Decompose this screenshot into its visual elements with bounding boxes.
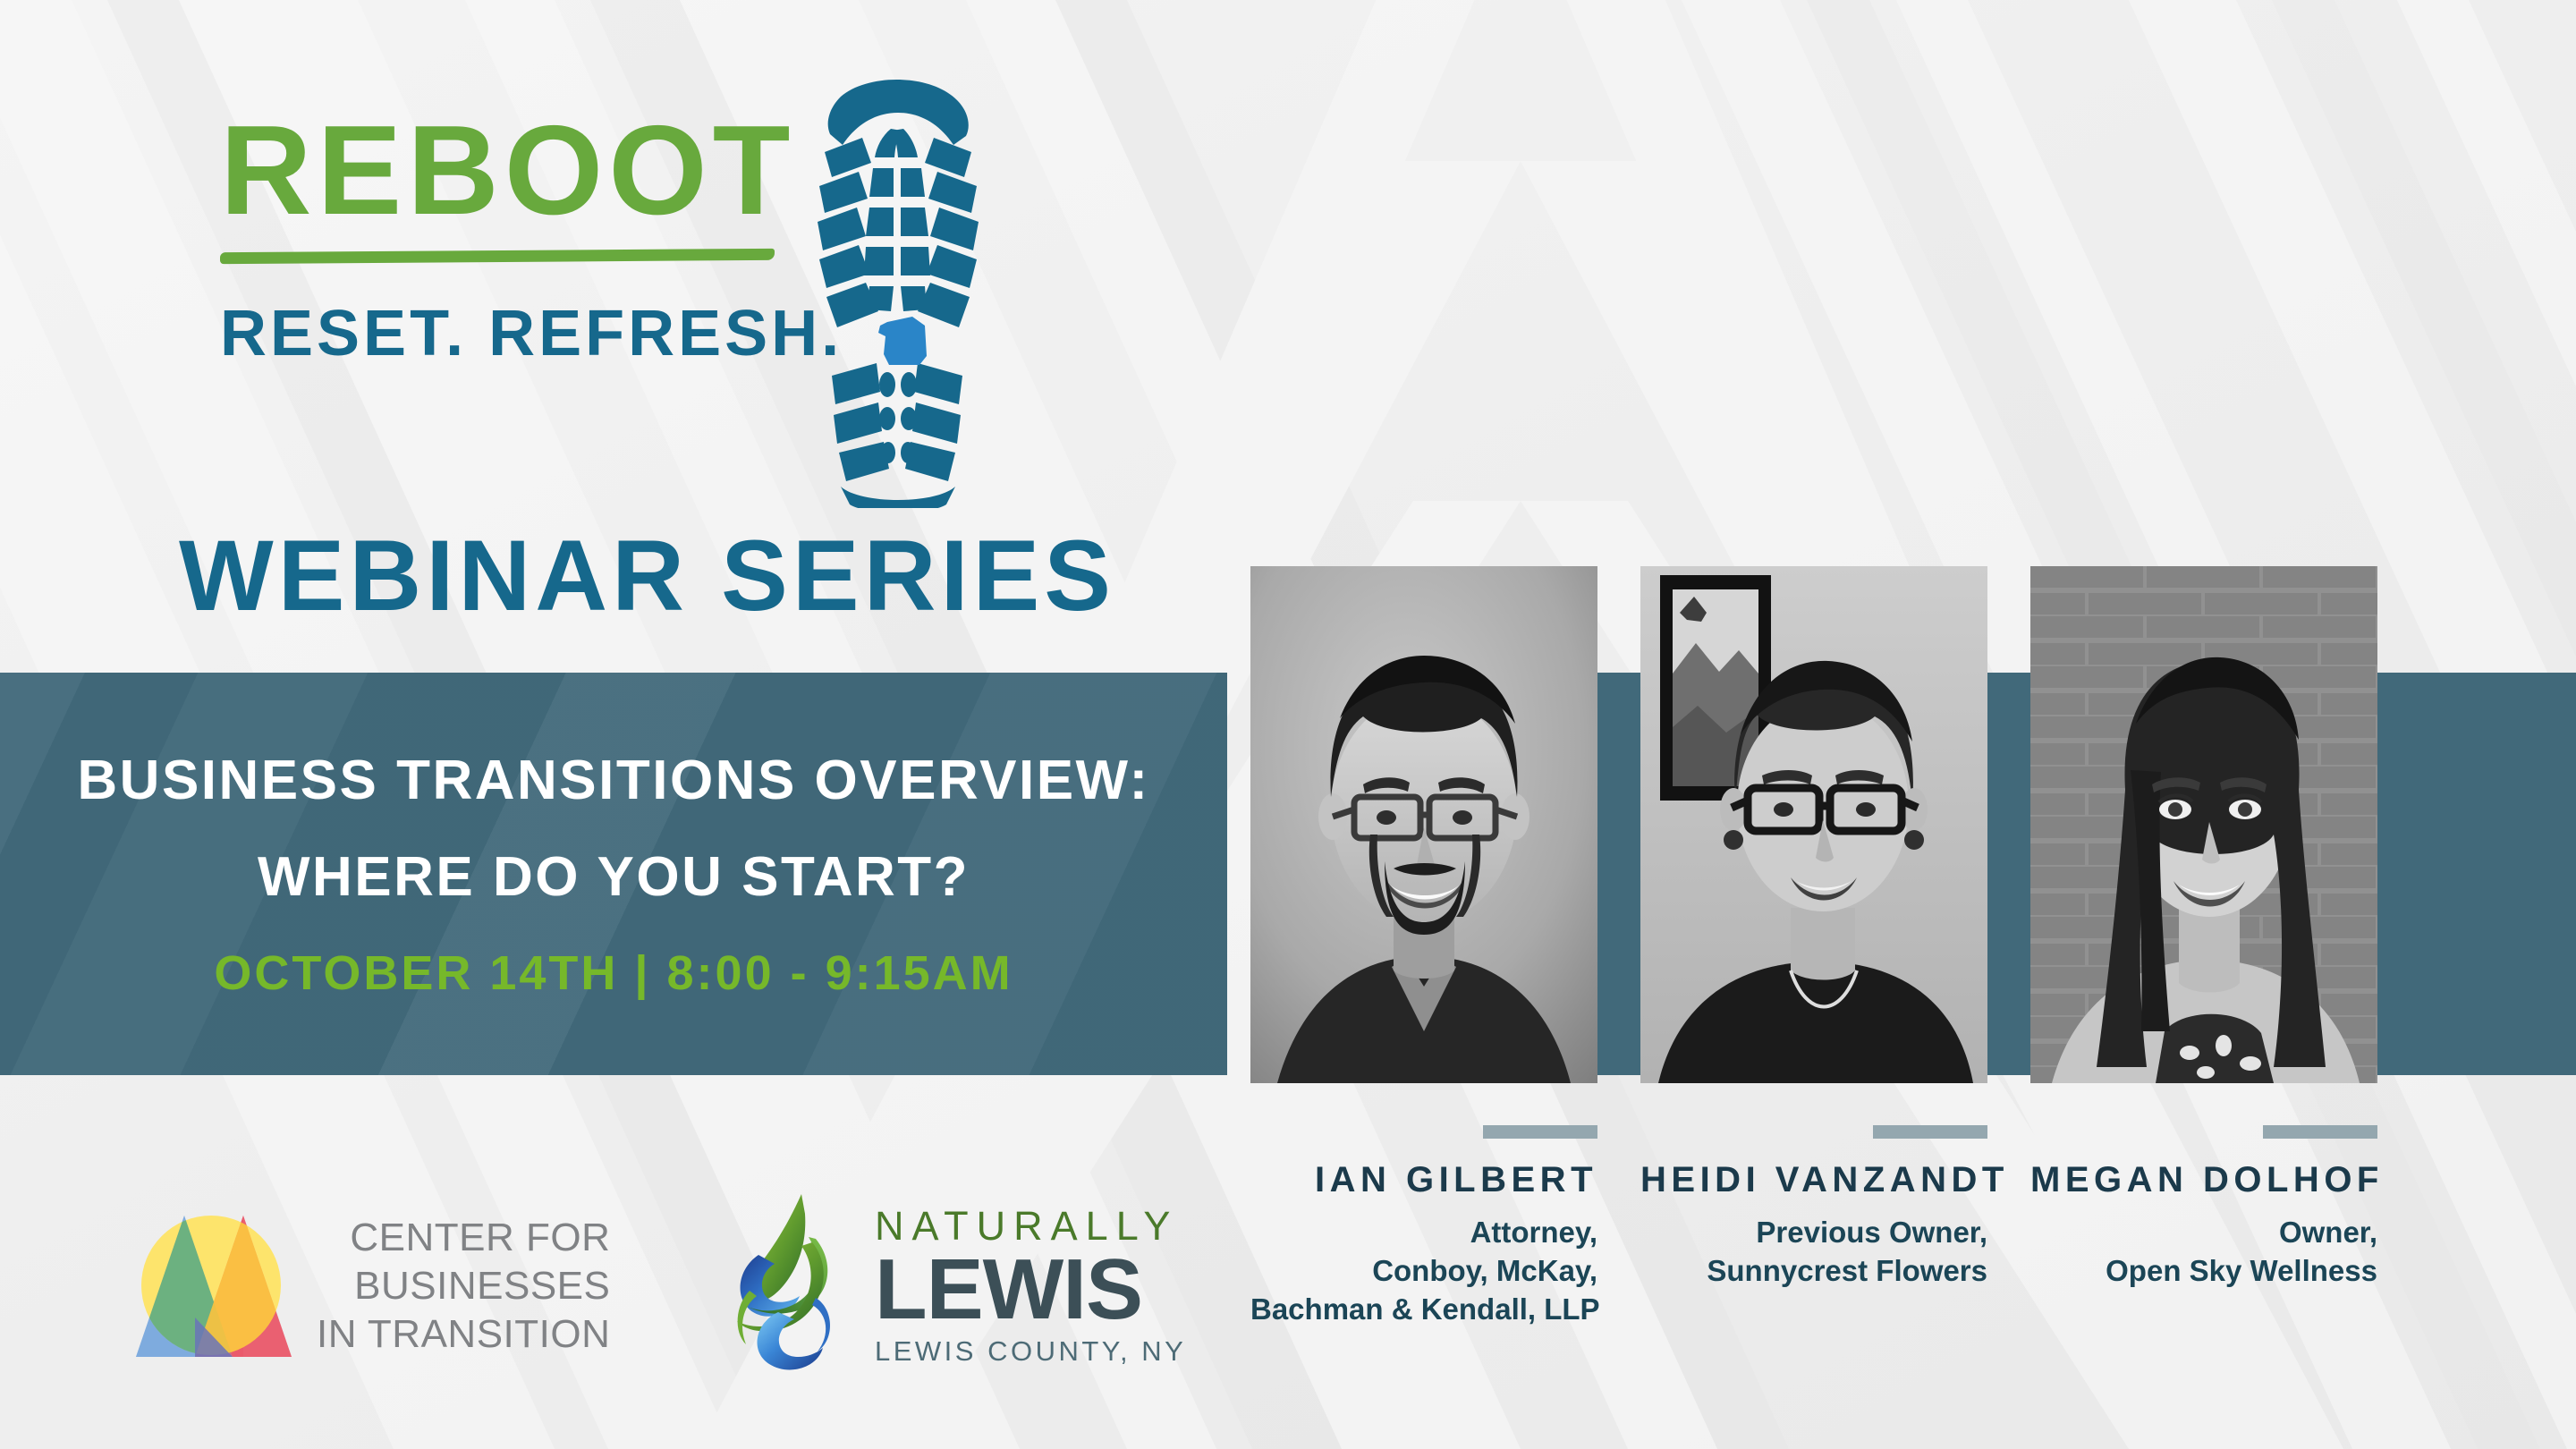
naturally-lewis-logo: NATURALLY LEWIS LEWIS COUNTY, NY	[723, 1188, 1197, 1376]
speaker-photo-row	[1250, 566, 2377, 1083]
boot-tread-footprint-icon	[805, 70, 988, 508]
nl-naturally-word: NATURALLY	[875, 1206, 1186, 1246]
reboot-tagline: RESET. REFRESH.	[220, 301, 810, 366]
speaker-role-line: Open Sky Wellness	[2030, 1252, 2377, 1291]
speaker-role-line: Owner,	[2030, 1214, 2377, 1252]
speaker-role-line: Conboy, McKay,	[1250, 1252, 1597, 1291]
speaker-accent-bar	[1483, 1125, 1597, 1139]
cbt-logo-text: CENTER FOR BUSINESSES IN TRANSITION	[317, 1214, 610, 1358]
speaker-photo-1	[1250, 566, 1597, 1083]
banner-title-line-2: WHERE DO YOU START?	[258, 847, 970, 908]
speaker-info-row: IAN GILBERT Attorney, Conboy, McKay, Bac…	[1250, 1125, 2377, 1329]
speaker-role-line: Previous Owner,	[1640, 1214, 1987, 1252]
reboot-wordmark: REBOOT	[220, 107, 810, 234]
speaker-photo-2	[1640, 566, 1987, 1083]
speaker-name: MEGAN DOLHOF	[2030, 1162, 2377, 1198]
speaker-name: HEIDI VANZANDT	[1640, 1162, 1987, 1198]
leaf-swirl-logo-icon	[723, 1191, 866, 1374]
speaker-card-3: MEGAN DOLHOF Owner, Open Sky Wellness	[2030, 1125, 2377, 1329]
speaker-card-1: IAN GILBERT Attorney, Conboy, McKay, Bac…	[1250, 1125, 1597, 1329]
banner-date-time: OCTOBER 14TH | 8:00 - 9:15AM	[214, 949, 1013, 997]
cbt-line-1: CENTER FOR	[317, 1214, 610, 1262]
speaker-role-line: Bachman & Kendall, LLP	[1250, 1291, 1597, 1329]
speaker-role: Previous Owner, Sunnycrest Flowers	[1640, 1214, 1987, 1291]
speaker-name: IAN GILBERT	[1250, 1162, 1597, 1198]
speaker-accent-bar	[1873, 1125, 1987, 1139]
speaker-role: Attorney, Conboy, McKay, Bachman & Kenda…	[1250, 1214, 1597, 1329]
reboot-underline-stroke	[220, 249, 775, 264]
nl-county-tagline: LEWIS COUNTY, NY	[875, 1337, 1186, 1365]
cbt-line-2: BUSINESSES	[317, 1262, 610, 1310]
naturally-lewis-text: NATURALLY LEWIS LEWIS COUNTY, NY	[875, 1199, 1186, 1365]
speaker-role-line: Attorney,	[1250, 1214, 1597, 1252]
speaker-photo-3	[2030, 566, 2377, 1083]
speaker-accent-bar	[2263, 1125, 2377, 1139]
speaker-role-line: Sunnycrest Flowers	[1640, 1252, 1987, 1291]
lewis-county-shape-icon	[878, 317, 927, 365]
webinar-series-title: WEBINAR SERIES	[179, 526, 1115, 626]
banner-title-line-1: BUSINESS TRANSITIONS OVERVIEW:	[77, 750, 1149, 811]
speaker-role: Owner, Open Sky Wellness	[2030, 1214, 2377, 1291]
cbt-line-3: IN TRANSITION	[317, 1310, 610, 1359]
band-gap-3	[2377, 673, 2576, 1075]
speaker-card-2: HEIDI VANZANDT Previous Owner, Sunnycres…	[1640, 1125, 1987, 1329]
center-for-businesses-in-transition-logo: CENTER FOR BUSINESSES IN TRANSITION	[134, 1197, 689, 1376]
banner-text-block: BUSINESS TRANSITIONS OVERVIEW: WHERE DO …	[0, 673, 1227, 1075]
reboot-logo: REBOOT RESET. REFRESH.	[220, 107, 810, 483]
nl-lewis-word: LEWIS	[875, 1248, 1186, 1332]
triangle-circle-logo-icon	[134, 1210, 293, 1362]
